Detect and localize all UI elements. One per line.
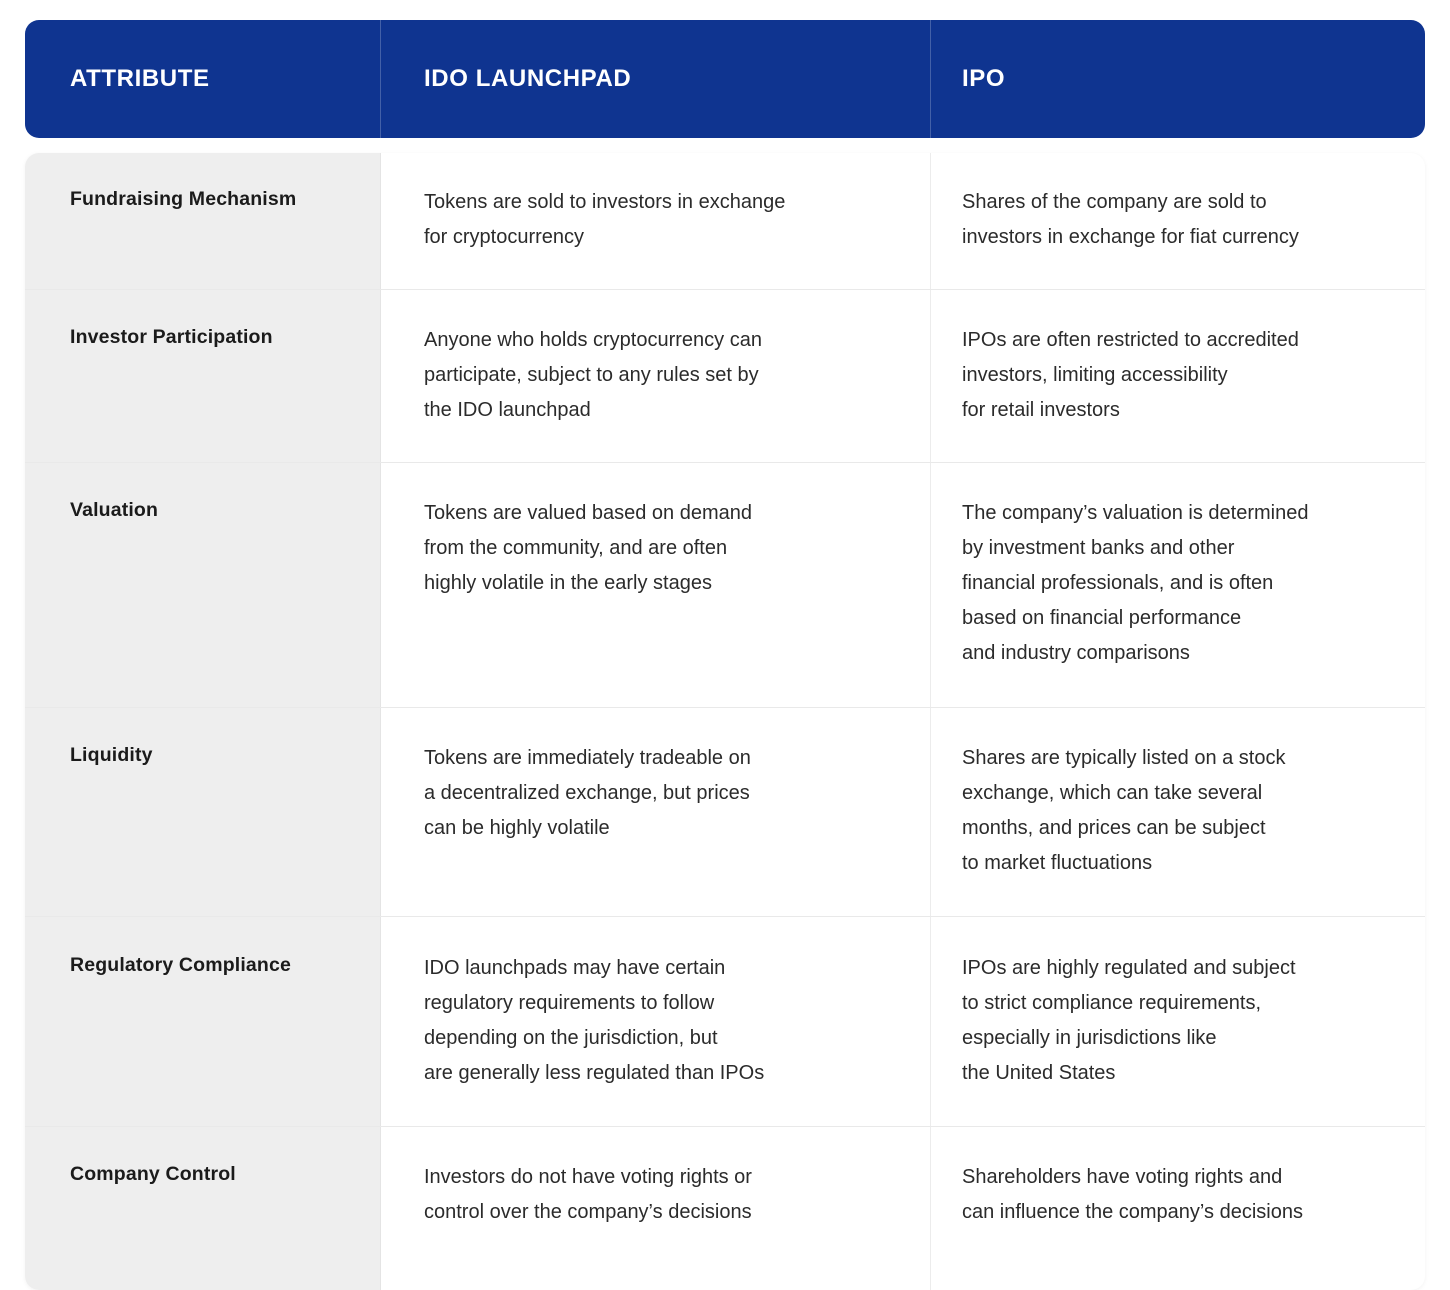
text-line: participate, subject to any rules set by	[424, 358, 900, 393]
text-line: control over the company’s decisions	[424, 1195, 900, 1230]
row-cell-ido: Tokens are sold to investors in exchange…	[381, 153, 931, 289]
column-header-attribute: ATTRIBUTE	[25, 20, 381, 138]
text-line: investors, limiting accessibility	[962, 358, 1405, 393]
row-attribute-label: Liquidity	[25, 708, 381, 916]
text-line: exchange, which can take several	[962, 776, 1405, 811]
text-line: are generally less regulated than IPOs	[424, 1056, 900, 1091]
text-line: Shares are typically listed on a stock	[962, 741, 1405, 776]
text-line: to strict compliance requirements,	[962, 986, 1405, 1021]
row-attribute-label: Valuation	[25, 463, 381, 707]
text-line: Anyone who holds cryptocurrency can	[424, 323, 900, 358]
text-line: months, and prices can be subject	[962, 811, 1405, 846]
row-cell-ido: IDO launchpads may have certainregulator…	[381, 917, 931, 1126]
row-cell-ipo: IPOs are often restricted to accreditedi…	[931, 290, 1425, 462]
text-line: The company’s valuation is determined	[962, 496, 1405, 531]
text-line: regulatory requirements to follow	[424, 986, 900, 1021]
row-attribute-label: Investor Participation	[25, 290, 381, 462]
text-line: by investment banks and other	[962, 531, 1405, 566]
table-row: Liquidity Tokens are immediately tradeab…	[25, 708, 1425, 917]
text-line: investors in exchange for fiat currency	[962, 220, 1405, 255]
text-line: Tokens are sold to investors in exchange	[424, 185, 900, 220]
text-line: based on financial performance	[962, 601, 1405, 636]
table-body: Fundraising Mechanism Tokens are sold to…	[25, 153, 1425, 1290]
row-cell-ido: Tokens are valued based on demandfrom th…	[381, 463, 931, 707]
row-cell-ido: Anyone who holds cryptocurrency canparti…	[381, 290, 931, 462]
row-cell-ido: Investors do not have voting rights orco…	[381, 1127, 931, 1290]
row-cell-ipo: Shares are typically listed on a stockex…	[931, 708, 1425, 916]
column-header-ido-launchpad-label: IDO LAUNCHPAD	[424, 65, 631, 93]
column-header-ipo: IPO	[931, 20, 1425, 138]
text-line: especially in jurisdictions like	[962, 1021, 1405, 1056]
row-cell-ido: Tokens are immediately tradeable ona dec…	[381, 708, 931, 916]
text-line: for retail investors	[962, 393, 1405, 428]
row-attribute-label: Company Control	[25, 1127, 381, 1290]
table-row: Valuation Tokens are valued based on dem…	[25, 463, 1425, 708]
text-line: can influence the company’s decisions	[962, 1195, 1405, 1230]
text-line: depending on the jurisdiction, but	[424, 1021, 900, 1056]
text-line: Investors do not have voting rights or	[424, 1160, 900, 1195]
table-row: Investor Participation Anyone who holds …	[25, 290, 1425, 463]
text-line: highly volatile in the early stages	[424, 566, 900, 601]
text-line: financial professionals, and is often	[962, 566, 1405, 601]
table-row: Regulatory Compliance IDO launchpads may…	[25, 917, 1425, 1127]
text-line: IDO launchpads may have certain	[424, 951, 900, 986]
text-line: a decentralized exchange, but prices	[424, 776, 900, 811]
text-line: IPOs are often restricted to accredited	[962, 323, 1405, 358]
row-attribute-label: Regulatory Compliance	[25, 917, 381, 1126]
text-line: can be highly volatile	[424, 811, 900, 846]
text-line: for cryptocurrency	[424, 220, 900, 255]
column-header-ido-launchpad: IDO LAUNCHPAD	[381, 20, 931, 138]
text-line: to market fluctuations	[962, 846, 1405, 881]
text-line: Tokens are valued based on demand	[424, 496, 900, 531]
row-cell-ipo: The company’s valuation is determinedby …	[931, 463, 1425, 707]
column-header-attribute-label: ATTRIBUTE	[70, 65, 210, 93]
row-cell-ipo: IPOs are highly regulated and subjectto …	[931, 917, 1425, 1126]
table-header-row: ATTRIBUTE IDO LAUNCHPAD IPO	[25, 20, 1425, 138]
text-line: Shares of the company are sold to	[962, 185, 1405, 220]
text-line: the United States	[962, 1056, 1405, 1091]
text-line: Shareholders have voting rights and	[962, 1160, 1405, 1195]
text-line: the IDO launchpad	[424, 393, 900, 428]
row-attribute-label: Fundraising Mechanism	[25, 153, 381, 289]
text-line: from the community, and are often	[424, 531, 900, 566]
table-row: Fundraising Mechanism Tokens are sold to…	[25, 153, 1425, 290]
text-line: IPOs are highly regulated and subject	[962, 951, 1405, 986]
comparison-table: ATTRIBUTE IDO LAUNCHPAD IPO Fundraising …	[25, 20, 1425, 1290]
text-line: and industry comparisons	[962, 636, 1405, 671]
column-header-ipo-label: IPO	[962, 65, 1005, 93]
row-cell-ipo: Shares of the company are sold toinvesto…	[931, 153, 1425, 289]
table-row: Company Control Investors do not have vo…	[25, 1127, 1425, 1290]
text-line: Tokens are immediately tradeable on	[424, 741, 900, 776]
row-cell-ipo: Shareholders have voting rights andcan i…	[931, 1127, 1425, 1290]
